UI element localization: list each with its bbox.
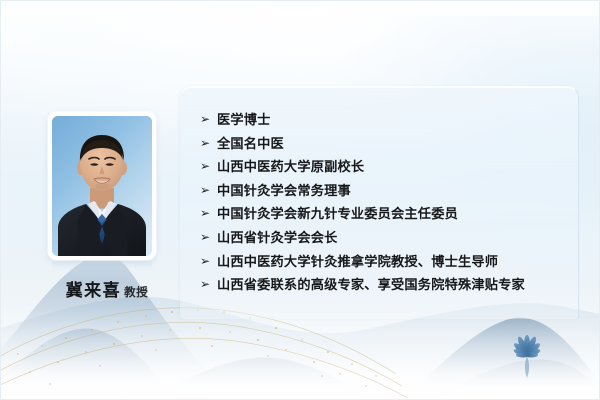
list-item: ➢ 中国针灸学会新九针专业委员会主任委员	[200, 206, 568, 228]
lotus-emblem-icon	[498, 334, 556, 380]
arrow-bullet-icon: ➢	[200, 160, 217, 172]
portrait-photo	[52, 116, 152, 256]
credentials-list: ➢ 医学博士 ➢ 全国名中医 ➢ 山西中医药大学原副校长 ➢ 中国针灸学会常务理…	[200, 112, 568, 301]
arrow-bullet-icon: ➢	[200, 255, 217, 267]
arrow-bullet-icon: ➢	[200, 184, 217, 196]
credential-text: 医学博士	[217, 112, 271, 129]
credentials-card: ➢ 医学博士 ➢ 全国名中医 ➢ 山西中医药大学原副校长 ➢ 中国针灸学会常务理…	[180, 86, 579, 319]
arrow-bullet-icon: ➢	[200, 137, 217, 149]
portrait-frame	[48, 112, 156, 260]
list-item: ➢ 山西中医药大学针灸推拿学院教授、博士生导师	[200, 254, 568, 276]
person-name-block: 冀来喜教授	[48, 276, 166, 301]
list-item: ➢ 医学博士	[200, 112, 568, 134]
arrow-bullet-icon: ➢	[200, 113, 217, 125]
arrow-bullet-icon: ➢	[200, 207, 217, 219]
credential-text: 山西省委联系的高级专家、享受国务院特殊津贴专家	[217, 277, 525, 294]
credential-text: 全国名中医	[217, 136, 284, 153]
person-title: 教授	[124, 285, 148, 299]
list-item: ➢ 全国名中医	[200, 136, 568, 158]
credential-text: 中国针灸学会新九针专业委员会主任委员	[217, 206, 458, 223]
list-item: ➢ 山西省针灸学会会长	[200, 230, 568, 252]
credential-text: 中国针灸学会常务理事	[217, 183, 351, 200]
credential-text: 山西中医药大学原副校长	[217, 159, 364, 176]
arrow-bullet-icon: ➢	[200, 231, 217, 243]
slide-canvas: ➢ 医学博士 ➢ 全国名中医 ➢ 山西中医药大学原副校长 ➢ 中国针灸学会常务理…	[0, 0, 600, 400]
list-item: ➢ 山西中医药大学原副校长	[200, 159, 568, 181]
portrait-container	[48, 112, 156, 260]
person-name: 冀来喜	[66, 281, 122, 301]
credential-text: 山西省针灸学会会长	[217, 230, 338, 247]
credential-text: 山西中医药大学针灸推拿学院教授、博士生导师	[217, 254, 498, 271]
list-item: ➢ 山西省委联系的高级专家、享受国务院特殊津贴专家	[200, 277, 568, 299]
arrow-bullet-icon: ➢	[200, 278, 217, 290]
list-item: ➢ 中国针灸学会常务理事	[200, 183, 568, 205]
